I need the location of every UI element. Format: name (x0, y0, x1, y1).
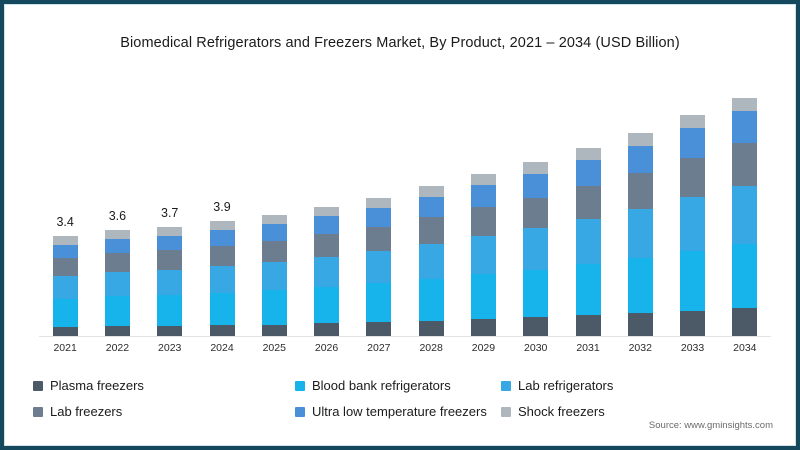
bar-segment-lab-freezers (366, 227, 391, 251)
x-tick-2023: 2023 (140, 342, 200, 354)
bar-segment-lab-refrigerators (262, 262, 287, 290)
legend-swatch-icon (33, 381, 43, 391)
bar-segment-ultra-low-temperature-freezers (576, 160, 601, 186)
bar-segment-ultra-low-temperature-freezers (680, 128, 705, 158)
bar-2025 (262, 215, 287, 336)
bar-segment-ultra-low-temperature-freezers (53, 245, 78, 258)
legend-swatch-icon (501, 381, 511, 391)
x-tick-2026: 2026 (297, 342, 357, 354)
bar-segment-blood-bank-refrigerators (314, 287, 339, 323)
legend-item-lab-refrigerators[interactable]: Lab refrigerators (501, 378, 613, 393)
bar-segment-shock-freezers (576, 148, 601, 160)
bar-segment-ultra-low-temperature-freezers (523, 174, 548, 198)
x-axis-labels: 2021202220232024202520262027202820292030… (39, 342, 771, 360)
bar-segment-plasma-freezers (53, 327, 78, 336)
legend-swatch-icon (501, 407, 511, 417)
bar-segment-shock-freezers (105, 230, 130, 239)
source-attribution: Source: www.gminsights.com (649, 420, 773, 431)
bar-segment-lab-freezers (471, 207, 496, 236)
bar-segment-ultra-low-temperature-freezers (210, 230, 235, 246)
x-tick-2027: 2027 (349, 342, 409, 354)
bar-segment-plasma-freezers (628, 313, 653, 336)
bar-segment-plasma-freezers (366, 322, 391, 336)
bar-2034 (732, 98, 757, 336)
bar-segment-blood-bank-refrigerators (732, 244, 757, 308)
bar-segment-shock-freezers (53, 236, 78, 245)
bar-segment-lab-freezers (262, 241, 287, 262)
legend-item-label: Ultra low temperature freezers (312, 404, 487, 419)
x-tick-2033: 2033 (663, 342, 723, 354)
bar-segment-lab-freezers (628, 173, 653, 209)
bar-segment-blood-bank-refrigerators (210, 293, 235, 325)
bar-2024 (210, 221, 235, 336)
x-tick-2029: 2029 (453, 342, 513, 354)
bar-segment-plasma-freezers (471, 319, 496, 336)
bar-segment-plasma-freezers (105, 326, 130, 336)
bar-segment-lab-refrigerators (732, 186, 757, 244)
bar-segment-lab-refrigerators (157, 270, 182, 295)
x-tick-2028: 2028 (401, 342, 461, 354)
bar-2031 (576, 148, 601, 336)
bar-2021 (53, 236, 78, 336)
bar-segment-lab-freezers (419, 217, 444, 243)
chart-legend: Plasma freezersBlood bank refrigeratorsL… (33, 378, 713, 428)
legend-item-label: Lab freezers (50, 404, 122, 419)
bar-segment-lab-refrigerators (53, 276, 78, 299)
bar-segment-lab-freezers (732, 143, 757, 185)
x-tick-2030: 2030 (506, 342, 566, 354)
bar-segment-blood-bank-refrigerators (680, 251, 705, 311)
bar-2022 (105, 230, 130, 336)
x-tick-2021: 2021 (35, 342, 95, 354)
bar-segment-lab-freezers (523, 198, 548, 229)
legend-item-label: Lab refrigerators (518, 378, 613, 393)
x-tick-2034: 2034 (715, 342, 775, 354)
bar-value-label-2024: 3.9 (187, 200, 257, 214)
bar-segment-plasma-freezers (523, 317, 548, 336)
bar-segment-ultra-low-temperature-freezers (157, 236, 182, 251)
bar-segment-blood-bank-refrigerators (105, 296, 130, 326)
bar-segment-blood-bank-refrigerators (53, 299, 78, 327)
chart-inner-frame: Biomedical Refrigerators and Freezers Ma… (4, 4, 796, 446)
x-tick-2024: 2024 (192, 342, 252, 354)
bar-segment-ultra-low-temperature-freezers (262, 224, 287, 240)
bar-segment-lab-freezers (105, 253, 130, 272)
bar-segment-lab-freezers (53, 258, 78, 276)
bar-segment-blood-bank-refrigerators (366, 283, 391, 322)
bar-segment-shock-freezers (471, 174, 496, 185)
x-tick-2031: 2031 (558, 342, 618, 354)
bar-segment-lab-freezers (210, 246, 235, 266)
bar-segment-lab-freezers (157, 250, 182, 269)
x-tick-2032: 2032 (610, 342, 670, 354)
x-tick-2022: 2022 (87, 342, 147, 354)
bar-segment-lab-refrigerators (105, 272, 130, 296)
legend-swatch-icon (295, 407, 305, 417)
bar-2027 (366, 198, 391, 336)
bar-segment-shock-freezers (314, 207, 339, 216)
bar-segment-plasma-freezers (680, 311, 705, 336)
bar-2032 (628, 133, 653, 336)
bar-segment-blood-bank-refrigerators (523, 270, 548, 318)
bar-segment-ultra-low-temperature-freezers (732, 111, 757, 143)
chart-title: Biomedical Refrigerators and Freezers Ma… (5, 35, 795, 51)
bar-segment-lab-freezers (680, 158, 705, 197)
plot-area: 3.43.63.73.9 (39, 83, 771, 336)
bar-segment-plasma-freezers (576, 315, 601, 336)
bar-segment-blood-bank-refrigerators (628, 258, 653, 313)
bar-segment-blood-bank-refrigerators (471, 274, 496, 319)
bar-segment-ultra-low-temperature-freezers (366, 208, 391, 227)
bar-segment-plasma-freezers (314, 323, 339, 336)
x-tick-2025: 2025 (244, 342, 304, 354)
bar-segment-shock-freezers (157, 227, 182, 236)
bar-segment-shock-freezers (732, 98, 757, 111)
bar-segment-plasma-freezers (262, 325, 287, 336)
bar-segment-plasma-freezers (157, 326, 182, 336)
bar-2033 (680, 115, 705, 336)
x-axis-line (39, 336, 771, 337)
bar-segment-ultra-low-temperature-freezers (314, 216, 339, 234)
bar-segment-lab-refrigerators (680, 197, 705, 251)
bar-segment-lab-freezers (314, 234, 339, 257)
bar-2023 (157, 227, 182, 336)
bar-2028 (419, 186, 444, 336)
bar-segment-lab-refrigerators (523, 228, 548, 269)
legend-item-plasma-freezers[interactable]: Plasma freezers (33, 378, 144, 393)
bar-segment-blood-bank-refrigerators (262, 290, 287, 324)
legend-item-lab-freezers[interactable]: Lab freezers (33, 404, 122, 419)
bar-segment-shock-freezers (523, 162, 548, 174)
legend-item-label: Plasma freezers (50, 378, 144, 393)
legend-item-label: Blood bank refrigerators (312, 378, 451, 393)
bar-segment-lab-refrigerators (471, 236, 496, 274)
bar-segment-lab-refrigerators (210, 266, 235, 293)
legend-item-shock-freezers[interactable]: Shock freezers (501, 404, 605, 419)
bar-2026 (314, 207, 339, 336)
legend-swatch-icon (295, 381, 305, 391)
bar-segment-blood-bank-refrigerators (419, 279, 444, 321)
legend-item-label: Shock freezers (518, 404, 605, 419)
bar-segment-plasma-freezers (732, 308, 757, 336)
bar-segment-ultra-low-temperature-freezers (471, 185, 496, 207)
legend-swatch-icon (33, 407, 43, 417)
bar-segment-shock-freezers (262, 215, 287, 224)
bar-2030 (523, 162, 548, 336)
bar-segment-lab-refrigerators (576, 219, 601, 264)
bar-segment-shock-freezers (680, 115, 705, 128)
legend-item-ultra-low-temperature-freezers[interactable]: Ultra low temperature freezers (295, 404, 487, 419)
bar-segment-lab-refrigerators (628, 209, 653, 258)
bar-segment-shock-freezers (419, 186, 444, 197)
bar-segment-lab-freezers (576, 186, 601, 219)
chart-frame: Biomedical Refrigerators and Freezers Ma… (0, 0, 800, 450)
bar-segment-shock-freezers (210, 221, 235, 230)
bar-segment-ultra-low-temperature-freezers (105, 239, 130, 253)
bar-segment-lab-refrigerators (366, 251, 391, 283)
bar-segment-shock-freezers (366, 198, 391, 208)
bar-segment-ultra-low-temperature-freezers (628, 146, 653, 174)
bar-segment-blood-bank-refrigerators (576, 264, 601, 315)
bar-segment-plasma-freezers (210, 325, 235, 336)
legend-item-blood-bank-refrigerators[interactable]: Blood bank refrigerators (295, 378, 451, 393)
bar-segment-shock-freezers (628, 133, 653, 146)
bar-segment-plasma-freezers (419, 321, 444, 336)
bar-segment-ultra-low-temperature-freezers (419, 197, 444, 217)
bar-segment-lab-refrigerators (314, 257, 339, 287)
bar-segment-lab-refrigerators (419, 244, 444, 279)
bar-2029 (471, 174, 496, 336)
bar-segment-blood-bank-refrigerators (157, 295, 182, 326)
